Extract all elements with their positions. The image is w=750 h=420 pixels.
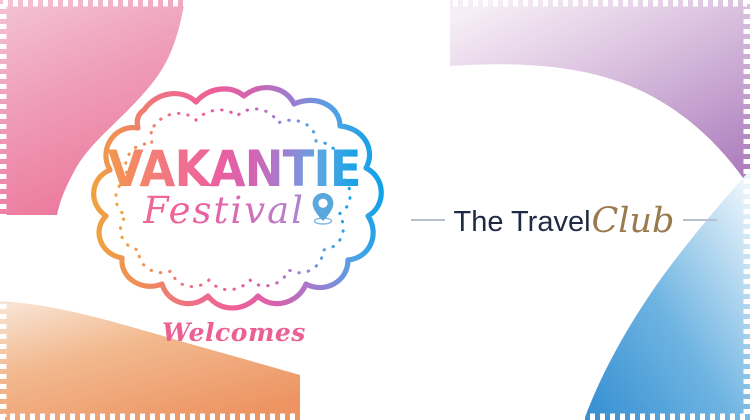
brand-name: The Travel Club xyxy=(454,200,675,240)
badge-script: Festival xyxy=(143,192,305,229)
divider-left xyxy=(411,219,445,221)
brand-lockup: The Travel Club xyxy=(408,196,720,244)
location-pin-icon xyxy=(309,191,337,225)
brand-prefix: The Travel xyxy=(454,206,591,239)
purple-blob-decoration xyxy=(450,0,750,200)
welcome-banner: VAKANTIE Festival Welcomes The Travel Cl… xyxy=(0,0,750,420)
badge-script-line: Festival xyxy=(143,192,337,229)
divider-right xyxy=(683,219,717,221)
vakantie-festival-badge: VAKANTIE Festival xyxy=(78,82,390,316)
welcomes-text: Welcomes xyxy=(78,318,390,347)
brand-suffix: Club xyxy=(592,201,675,241)
badge-wordmark: VAKANTIE xyxy=(107,144,360,194)
